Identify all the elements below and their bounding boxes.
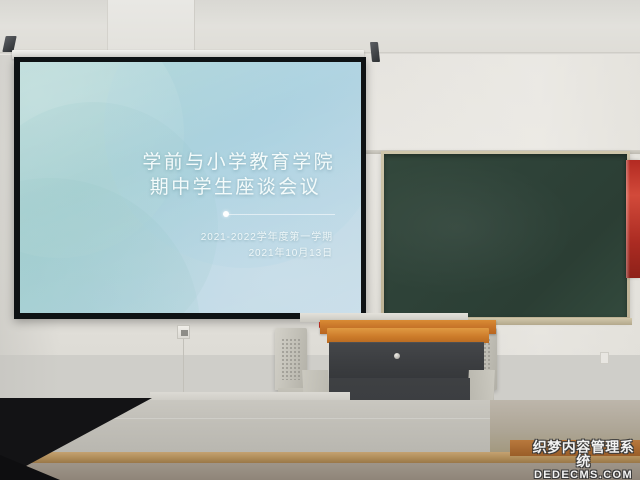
slide-title-block: 学前与小学教育学院 期中学生座谈会议 bbox=[20, 150, 351, 201]
wall-socket-plate[interactable] bbox=[177, 325, 190, 339]
slide-title-line-1: 学前与小学教育学院 bbox=[20, 150, 335, 175]
slide-subtitle-block: 2021-2022学年度第一学期 2021年10月13日 bbox=[20, 230, 351, 261]
socket-cable bbox=[183, 339, 184, 395]
blackboard[interactable] bbox=[381, 151, 630, 320]
watermark-chinese: 织梦内容管理系统 bbox=[527, 440, 640, 468]
podium-lock-knob[interactable] bbox=[394, 353, 400, 359]
wall-socket-plate-right[interactable] bbox=[600, 352, 609, 364]
blackboard-surface bbox=[384, 154, 627, 317]
watermark: 织梦内容管理系统 DEDECMS.COM bbox=[527, 440, 640, 480]
slide-divider-line bbox=[223, 214, 335, 215]
projection-screen[interactable]: 学前与小学教育学院 期中学生座谈会议 2021-2022学年度第一学期 2021… bbox=[14, 57, 366, 319]
slide-title-line-2: 期中学生座谈会议 bbox=[20, 175, 335, 200]
podium-upper-panel[interactable] bbox=[329, 342, 484, 379]
watermark-latin: DEDECMS.COM bbox=[527, 470, 640, 480]
projected-slide: 学前与小学教育学院 期中学生座谈会议 2021-2022学年度第一学期 2021… bbox=[20, 62, 361, 313]
podium-wood-desktop[interactable] bbox=[327, 328, 489, 343]
slide-subtitle-line-2: 2021年10月13日 bbox=[20, 246, 333, 262]
red-wall-banner bbox=[626, 160, 640, 278]
speaker-grille-icon bbox=[281, 338, 301, 380]
classroom-photo: 学前与小学教育学院 期中学生座谈会议 2021-2022学年度第一学期 2021… bbox=[0, 0, 640, 480]
ceiling-panel bbox=[107, 0, 195, 50]
slide-subtitle-line-1: 2021-2022学年度第一学期 bbox=[20, 230, 333, 246]
